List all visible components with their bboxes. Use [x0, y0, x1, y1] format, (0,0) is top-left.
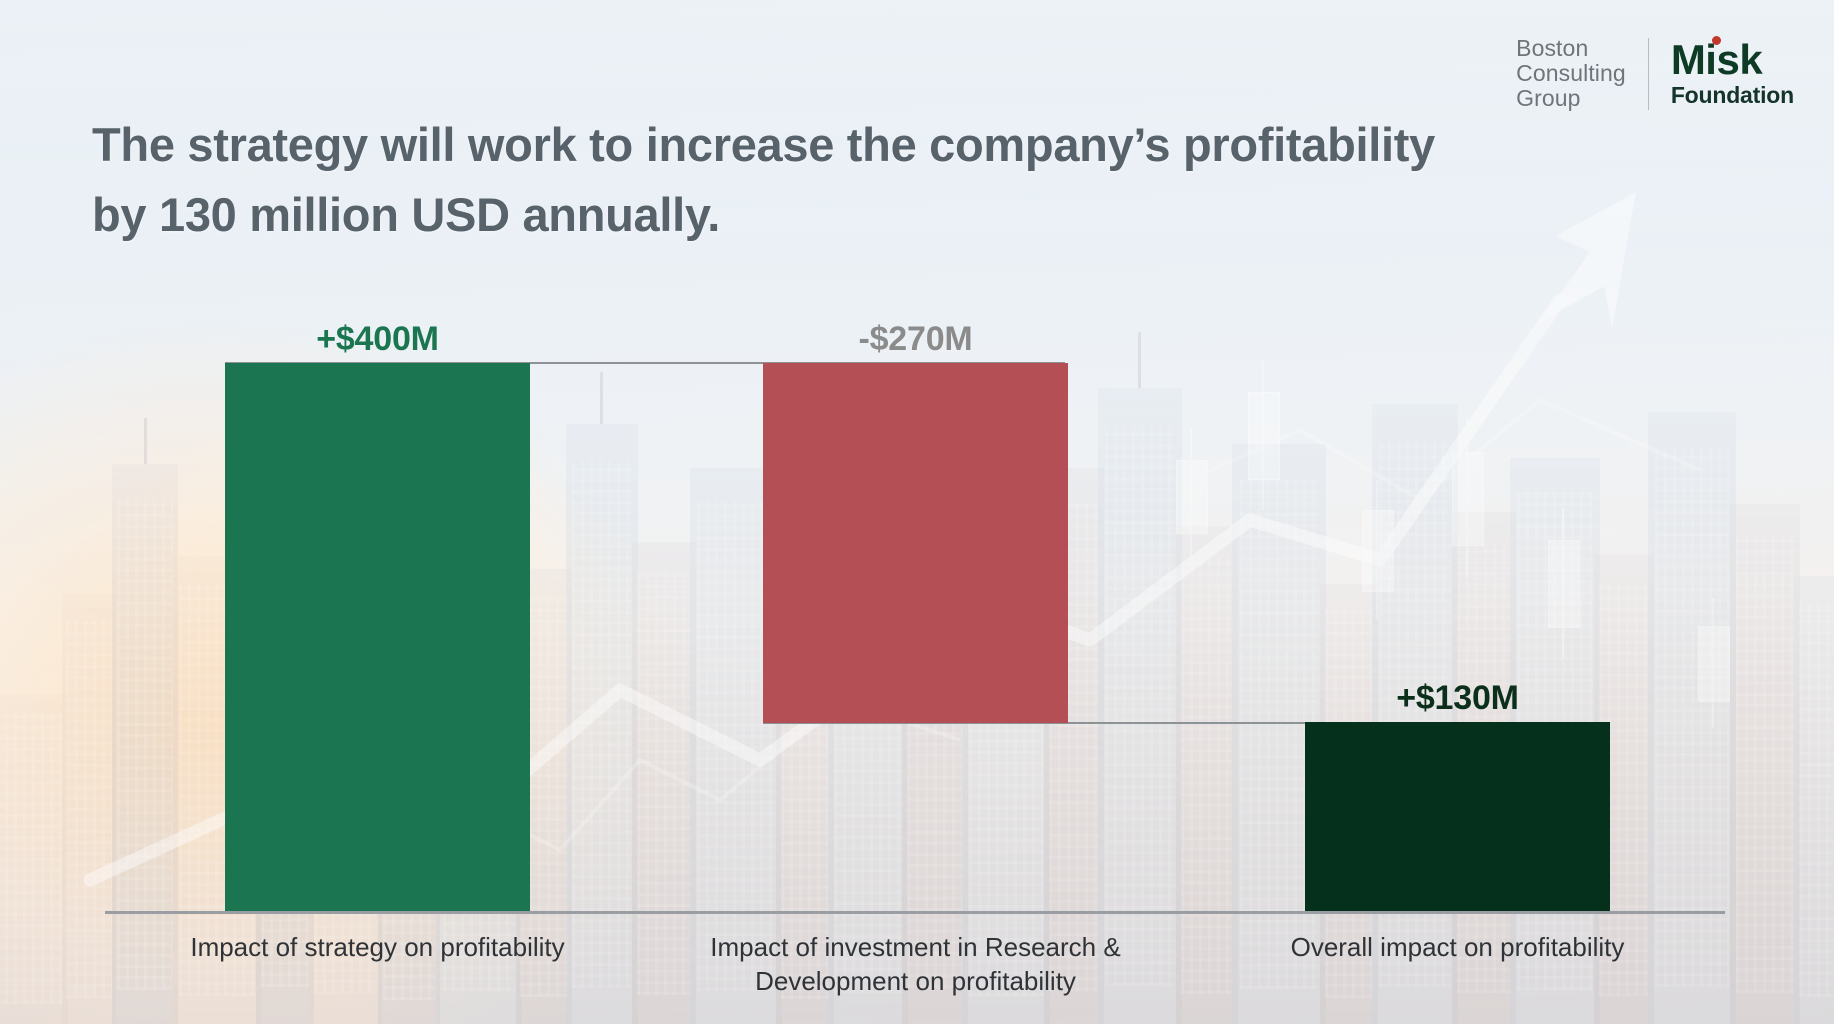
category-label-bar2-line-1: Impact of investment in Research & — [655, 930, 1176, 964]
bar-impact-of-rnd-investment — [763, 363, 1068, 723]
bcg-logo-line-1: Boston — [1516, 36, 1626, 61]
category-label-bar3-line-1: Overall impact on profitability — [1197, 930, 1718, 964]
slide-title: The strategy will work to increase the c… — [92, 110, 1492, 250]
value-label-bar3: +$130M — [1305, 679, 1610, 718]
category-label-bar2-line-2: Development on profitability — [655, 964, 1176, 998]
category-label-bar1: Impact of strategy on profitability — [117, 930, 638, 964]
bar-impact-of-strategy — [225, 363, 530, 914]
category-label-bar2: Impact of investment in Research & Devel… — [655, 930, 1176, 998]
slide-canvas: Boston Consulting Group Misk Foundation … — [0, 0, 1834, 1024]
misk-logo-wordmark: Misk — [1671, 39, 1794, 81]
category-label-bar1-line-1: Impact of strategy on profitability — [117, 930, 638, 964]
value-label-bar1: +$400M — [225, 320, 530, 359]
value-label-bar2: -$270M — [763, 320, 1068, 359]
bcg-logo: Boston Consulting Group — [1516, 36, 1626, 111]
misk-foundation-logo: Misk Foundation — [1671, 39, 1794, 108]
chart-baseline-axis — [105, 911, 1725, 914]
bcg-logo-line-2: Consulting — [1516, 61, 1626, 86]
category-label-bar3: Overall impact on profitability — [1197, 930, 1718, 964]
misk-logo-subtitle: Foundation — [1671, 82, 1794, 108]
logo-divider — [1648, 38, 1649, 110]
bcg-logo-line-3: Group — [1516, 86, 1626, 111]
logo-bar: Boston Consulting Group Misk Foundation — [1516, 36, 1794, 111]
misk-logo-dot-icon — [1712, 36, 1721, 45]
bar-overall-impact — [1305, 722, 1610, 914]
